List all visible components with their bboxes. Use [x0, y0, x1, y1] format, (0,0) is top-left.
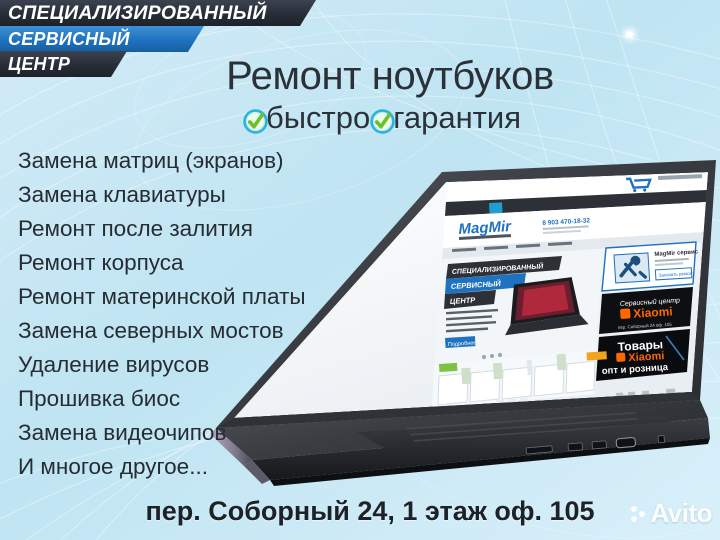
subtitle-row: быстро гарантия: [0, 100, 720, 136]
list-item: Замена северных мостов: [18, 314, 306, 348]
svg-text:ЦЕНТР: ЦЕНТР: [450, 295, 477, 306]
services-list: Замена матриц (экранов) Замена клавиатур…: [18, 144, 306, 484]
benefit-fast-label: быстро: [266, 100, 370, 136]
banner-specialized: СПЕЦИАЛИЗИРОВАННЫЙ: [0, 0, 316, 26]
list-item: Ремонт материнской платы: [18, 280, 306, 314]
list-item: Замена видеочипов: [18, 416, 306, 450]
check-circle-icon: [243, 106, 268, 131]
list-item: Прошивка биос: [18, 382, 306, 416]
address-text: пер. Соборный 24, 1 этаж оф. 105: [0, 496, 720, 527]
banner-service-label: СЕРВИСНЫЙ: [8, 29, 130, 50]
avito-watermark-label: Avito: [650, 498, 712, 529]
banner-center-label: ЦЕНТР: [8, 54, 70, 75]
list-item: Удаление вирусов: [18, 348, 306, 382]
benefit-warranty-label: гарантия: [393, 100, 521, 136]
avito-dots-icon: [631, 503, 647, 525]
poster-canvas: СПЕЦИАЛИЗИРОВАННЫЙ СЕРВИСНЫЙ ЦЕНТР Ремон…: [0, 0, 720, 540]
benefit-fast: быстро: [243, 100, 370, 136]
list-item: Замена матриц (экранов): [18, 144, 306, 178]
banner-service: СЕРВИСНЫЙ: [0, 26, 204, 52]
avito-watermark: Avito: [631, 498, 712, 529]
svg-text:Xiaomi: Xiaomi: [633, 304, 673, 320]
list-item: Ремонт корпуса: [18, 246, 306, 280]
list-item: Ремонт после залития: [18, 212, 306, 246]
banner-specialized-label: СПЕЦИАЛИЗИРОВАННЫЙ: [8, 2, 267, 25]
sparkle-dot-icon: [626, 31, 633, 38]
banner-center: ЦЕНТР: [0, 51, 127, 77]
check-circle-icon: [370, 106, 395, 131]
benefit-warranty: гарантия: [370, 100, 521, 136]
list-item: И многое другое...: [18, 450, 306, 484]
list-item: Замена клавиатуры: [18, 178, 306, 212]
